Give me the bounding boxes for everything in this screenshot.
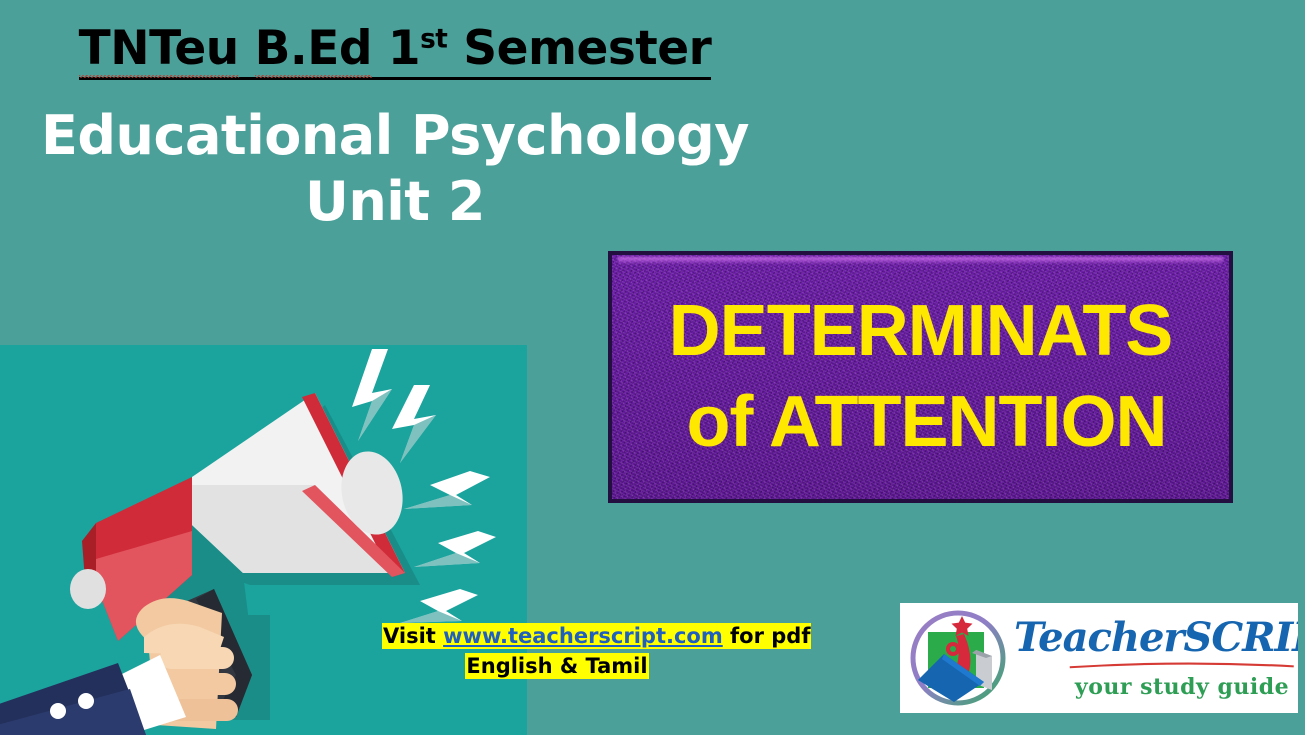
brand-tagline: your study guide <box>1014 676 1298 698</box>
course-title-word-tnteu: TNTeu <box>79 24 239 75</box>
emblem-flame-dot-inner <box>950 646 956 652</box>
unit-title: Unit 2 <box>0 172 790 232</box>
promo-suffix: for pdf <box>723 624 811 648</box>
course-title-space-3 <box>447 21 463 76</box>
sleeve-button-2 <box>78 693 94 709</box>
promo-line-2: English & Tamil <box>382 652 852 682</box>
course-title-word-semester: Semester <box>463 21 711 76</box>
teacherscript-logo-card[interactable]: TeacherSCRIPT your study guide <box>900 603 1298 713</box>
megaphone-back-knob <box>70 569 106 609</box>
brand-name: TeacherSCRIPT <box>1014 618 1298 658</box>
course-title-space-1 <box>239 21 255 76</box>
course-title: TNTeu B.Ed 1st Semester <box>0 24 790 84</box>
teacherscript-website-link[interactable]: www.teacherscript.com <box>443 624 723 648</box>
course-title-space-2 <box>372 21 388 76</box>
promo-line-1: Visit www.teacherscript.com for pdf <box>382 622 852 652</box>
teacherscript-wordmark: TeacherSCRIPT your study guide <box>1010 618 1298 698</box>
promo-highlight-2: English & Tamil <box>465 653 648 679</box>
subject-title: Educational Psychology <box>0 106 790 166</box>
sleeve-button-1 <box>50 703 66 719</box>
course-title-underline: TNTeu B.Ed 1st Semester <box>79 24 712 80</box>
promo-highlight-1: Visit www.teacherscript.com for pdf <box>382 623 811 649</box>
topic-title-box: DETERMINATS of ATTENTION <box>608 251 1233 503</box>
topic-title-line-1: DETERMINATS <box>669 291 1173 372</box>
slide-canvas: TNTeu B.Ed 1st Semester Educational Psyc… <box>0 0 1305 735</box>
promo-text-block: Visit www.teacherscript.com for pdf Engl… <box>382 622 852 682</box>
topic-title-line-2: of ATTENTION <box>687 382 1167 463</box>
heading-block: TNTeu B.Ed 1st Semester Educational Psyc… <box>0 24 790 233</box>
course-title-word-bed: B.Ed <box>255 24 372 75</box>
brand-swoosh-icon <box>1068 662 1296 669</box>
promo-prefix: Visit <box>383 624 443 648</box>
course-title-ordinal-number: 1 <box>388 21 420 76</box>
course-title-ordinal-suffix: st <box>420 24 447 54</box>
teacherscript-emblem-icon <box>906 606 1010 710</box>
